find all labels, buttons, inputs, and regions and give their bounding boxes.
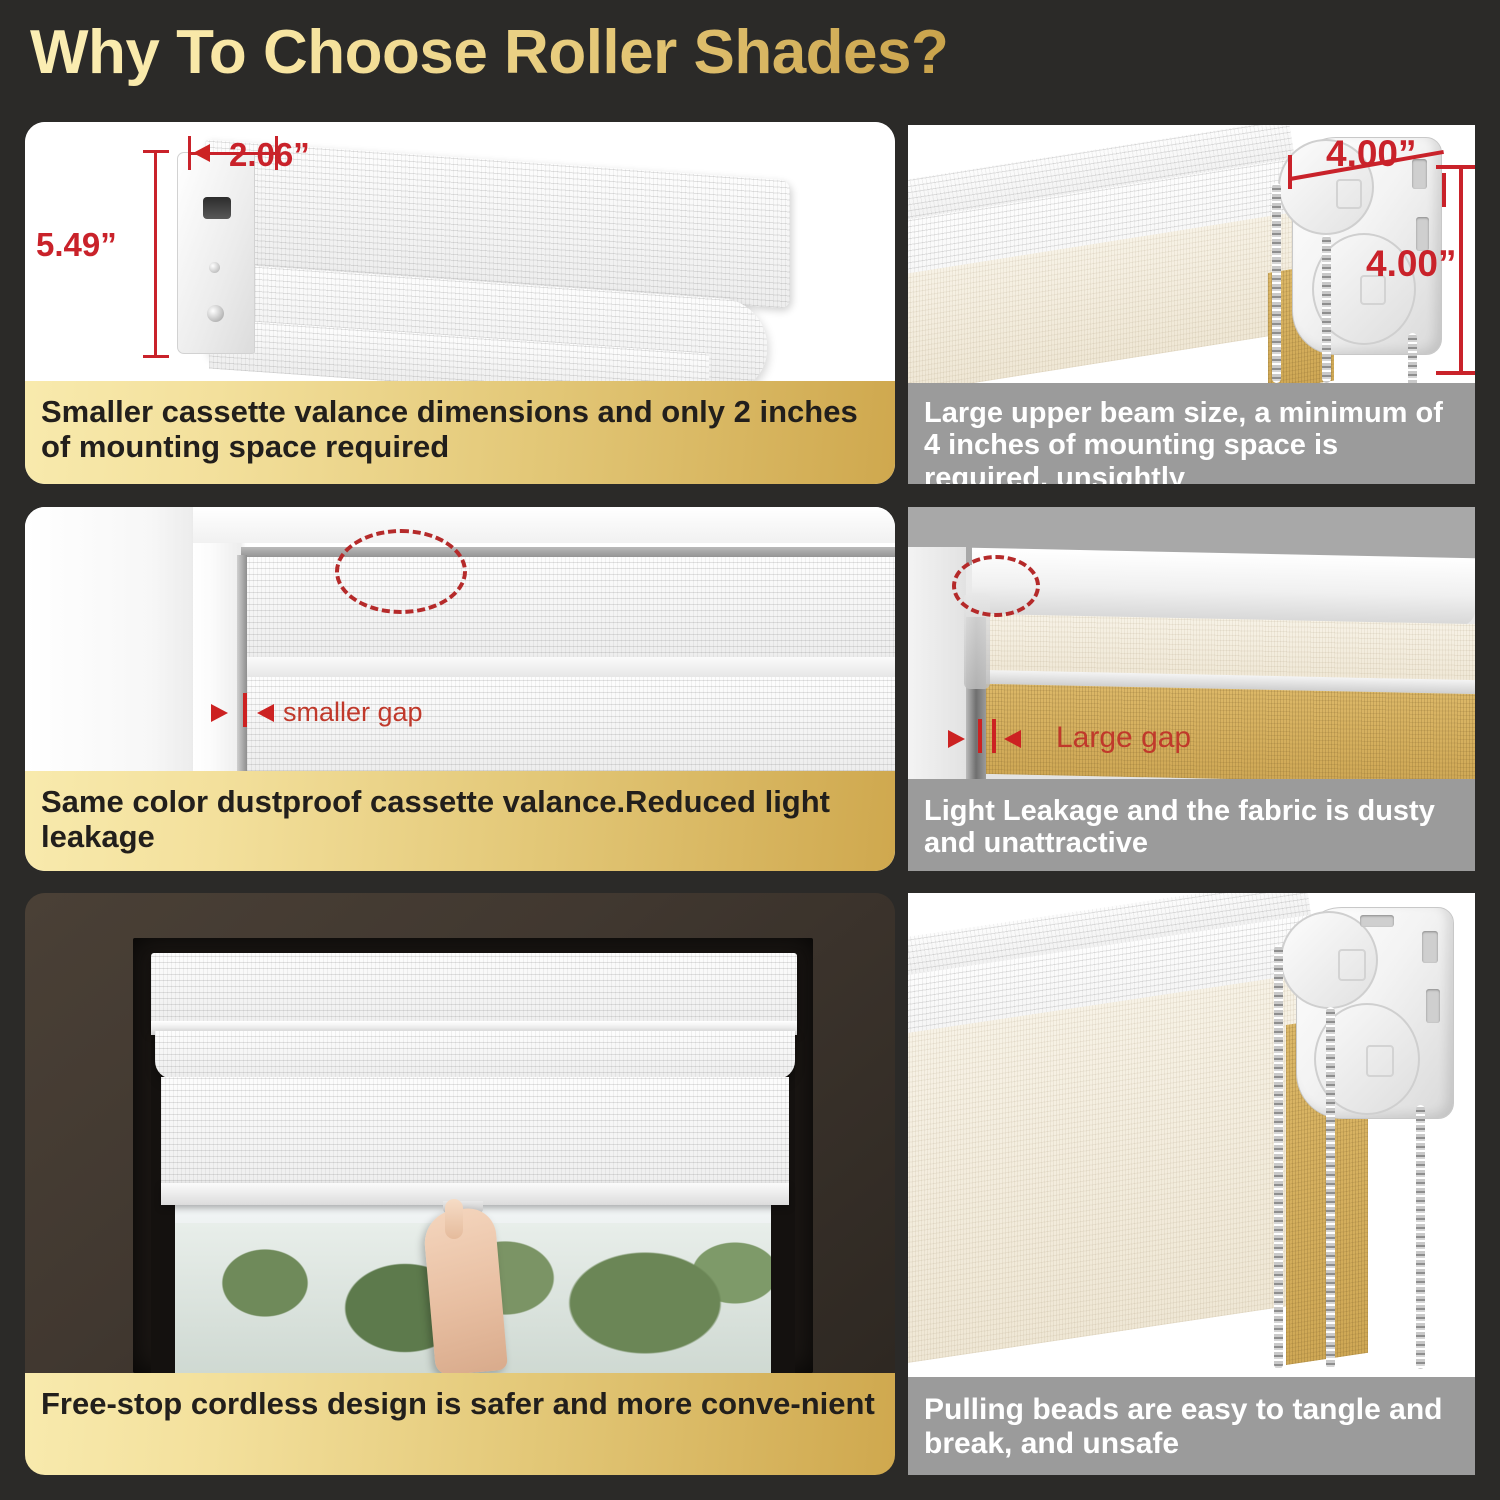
valance-lower-lobe bbox=[155, 1031, 795, 1079]
gap-marker-a bbox=[978, 719, 982, 753]
gap-arrow-left bbox=[211, 704, 228, 722]
smaller-gap-label: smaller gap bbox=[283, 697, 423, 728]
bead-chain-left bbox=[1274, 945, 1283, 1369]
beam-height-tick-top bbox=[1436, 165, 1475, 169]
valance-cassette bbox=[151, 953, 797, 1029]
window-frame-casing bbox=[193, 507, 241, 771]
end-cap-slot bbox=[203, 197, 231, 219]
height-dim-label: 5.49” bbox=[36, 226, 117, 264]
bead-chain-right bbox=[1408, 333, 1417, 383]
bead-chain-mid bbox=[1326, 1007, 1335, 1369]
bead-chain-left bbox=[1272, 183, 1281, 383]
beam-width-tick-right bbox=[1442, 173, 1446, 207]
product-photo-light-gap: Large gap bbox=[908, 507, 1475, 779]
product-photo-cassette-valance: 2.06” 5.49” bbox=[25, 122, 895, 381]
bracket-slot-top bbox=[1422, 931, 1438, 963]
end-cap-screw-bottom bbox=[207, 305, 224, 322]
gap-arrow-right bbox=[1004, 730, 1021, 748]
panel-large-upper-beam: 4.00” 4.00” Large upper beam size, a min… bbox=[908, 125, 1475, 484]
height-dim-tick-bottom bbox=[143, 355, 169, 358]
panel-smaller-cassette-valance: 2.06” 5.49” Smaller cassette valance dim… bbox=[25, 122, 895, 484]
panel-2-caption: Large upper beam size, a minimum of 4 in… bbox=[908, 383, 1475, 484]
beam-width-tick-left bbox=[1288, 155, 1292, 189]
beam-height-dim-label: 4.00” bbox=[1366, 243, 1457, 285]
beam-height-dim-line bbox=[1459, 165, 1463, 375]
hand-graphic bbox=[422, 1206, 508, 1373]
width-dim-tick-left bbox=[188, 136, 191, 170]
valance-end-cap bbox=[177, 152, 255, 354]
product-photo-bead-chains bbox=[908, 893, 1475, 1377]
bead-chain-mid bbox=[1322, 235, 1331, 383]
panel-cordless-design: Free-stop cordless design is safer and m… bbox=[25, 893, 895, 1475]
panel-1-caption: Smaller cassette valance dimensions and … bbox=[25, 381, 895, 484]
bracket-emblem-upper bbox=[1338, 949, 1366, 981]
gap-strip bbox=[237, 555, 247, 771]
panel-light-leakage: Large gap Light Leakage and the fabric i… bbox=[908, 507, 1475, 871]
width-dim-arrow-left bbox=[193, 144, 210, 162]
bracket-emblem-upper bbox=[1336, 179, 1362, 209]
panel-pulling-beads: Pulling beads are easy to tangle and bre… bbox=[908, 893, 1475, 1475]
product-photo-window-room bbox=[25, 893, 895, 1373]
shade-fabric-panel bbox=[161, 1077, 789, 1193]
gap-arrow-left bbox=[948, 730, 965, 748]
hand-finger bbox=[445, 1199, 463, 1239]
large-gap-label: Large gap bbox=[1056, 721, 1191, 755]
width-dim-label: 2.06” bbox=[229, 136, 310, 174]
gap-highlight-ellipse bbox=[335, 529, 467, 614]
panel-3-caption: Same color dustproof cassette valance.Re… bbox=[25, 771, 895, 871]
page-title: Why To Choose Roller Shades? bbox=[30, 17, 948, 88]
beam-width-dim-label: 4.00” bbox=[1326, 133, 1417, 175]
panel-5-caption: Free-stop cordless design is safer and m… bbox=[25, 1373, 895, 1475]
height-dim-line bbox=[154, 150, 157, 358]
panel-4-caption: Light Leakage and the fabric is dusty an… bbox=[908, 779, 1475, 871]
gap-marker-b bbox=[992, 719, 996, 753]
product-photo-roller-bracket: 4.00” 4.00” bbox=[908, 125, 1475, 383]
beam-height-tick-bottom bbox=[1436, 371, 1475, 375]
height-dim-tick-top bbox=[143, 150, 169, 153]
bead-chain-right bbox=[1416, 1105, 1425, 1369]
shade-fabric-cream bbox=[908, 974, 1304, 1365]
window-frame-left bbox=[25, 507, 205, 771]
panel-dustproof-cassette-valance: smaller gap Same color dustproof cassett… bbox=[25, 507, 895, 871]
gap-highlight-ellipse bbox=[952, 555, 1040, 617]
product-photo-window-valance: smaller gap bbox=[25, 507, 895, 771]
panel-6-caption: Pulling beads are easy to tangle and bre… bbox=[908, 1377, 1475, 1475]
gap-marker bbox=[243, 693, 247, 727]
end-cap-screw-top bbox=[209, 262, 220, 273]
window-frame-top bbox=[193, 507, 895, 543]
bracket-emblem-lower bbox=[1366, 1045, 1394, 1077]
bracket-slot-mid bbox=[1426, 989, 1440, 1023]
valance-bottom-rail bbox=[241, 657, 895, 679]
bracket-notch-top bbox=[1360, 915, 1394, 927]
gap-arrow-right bbox=[257, 704, 274, 722]
